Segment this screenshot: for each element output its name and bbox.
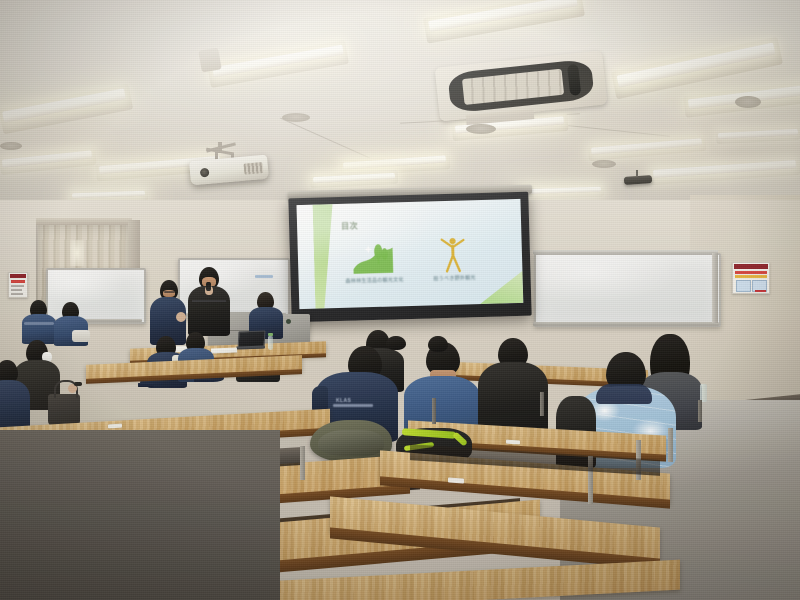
black-tote-bag[interactable] — [48, 394, 80, 426]
hoodie-text-line — [333, 404, 373, 407]
desk-label — [448, 477, 464, 483]
wristwatch — [74, 382, 82, 386]
student-left-far2-sleeve — [72, 330, 90, 342]
slide-item-1-caption: 森林林生活品の観光文化 — [337, 276, 413, 285]
student-behind2-head — [386, 336, 406, 350]
person-raising-arms-icon — [437, 234, 468, 275]
water-bottle[interactable] — [268, 336, 273, 350]
slide-item-1: 森林林生活品の観光文化 — [341, 238, 407, 296]
ceiling-shading — [0, 0, 800, 215]
jacket-fold — [318, 430, 384, 456]
puffer-hood-collar — [596, 384, 652, 404]
cap-brim — [138, 383, 154, 387]
desk-label — [108, 424, 122, 429]
desk-leg — [698, 400, 702, 422]
desk-leg — [432, 398, 436, 424]
paper-handouts[interactable] — [211, 348, 237, 354]
desk-leg — [668, 428, 673, 462]
screen-surface: 目次 森林林生活品の観光文化 — [297, 199, 524, 309]
slide-accent-left — [313, 204, 336, 309]
floor-under-desks — [0, 430, 280, 600]
bottle-cap — [268, 333, 273, 336]
jacket-zipper — [192, 300, 226, 302]
microphone[interactable] — [206, 282, 211, 291]
presenter-standing-left-hand — [176, 312, 186, 322]
desk-leg — [540, 392, 544, 416]
student-behind-head — [428, 336, 448, 352]
cabinet-knob[interactable] — [286, 319, 291, 324]
glasses-icon — [164, 291, 175, 293]
slide-item-2-caption: 担うべき野外観光 — [417, 274, 493, 283]
projection-screen[interactable]: 目次 森林林生活品の観光文化 — [288, 192, 531, 323]
classroom-photo: 目次 森林林生活品の観光文化 — [0, 0, 800, 600]
desk-label — [506, 440, 520, 445]
slide-item-2: 担うべき野外観光 — [421, 234, 487, 294]
slide-title: 目次 — [341, 220, 358, 231]
desk-leg — [300, 446, 305, 480]
tracksuit-stripe — [24, 322, 54, 325]
forest-landscape-icon — [350, 238, 395, 275]
